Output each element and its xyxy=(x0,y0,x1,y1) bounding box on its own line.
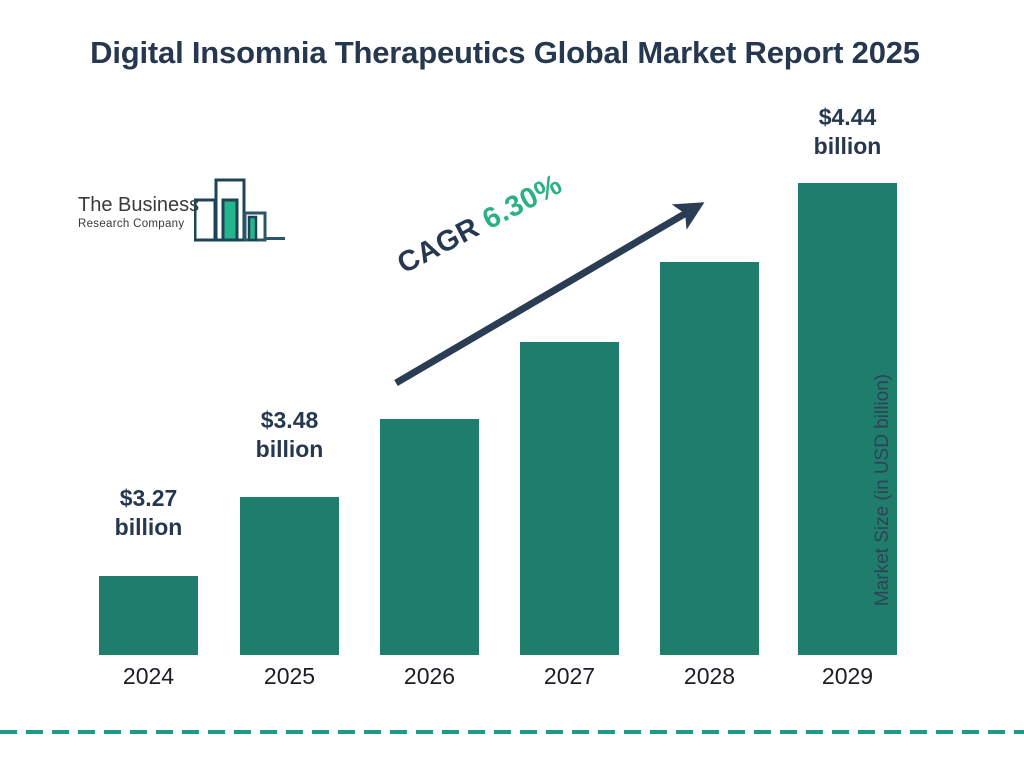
chart-canvas: Digital Insomnia Therapeutics Global Mar… xyxy=(0,0,1024,768)
y-axis-title: Market Size (in USD billion) xyxy=(872,330,894,650)
chart-overlay xyxy=(0,0,1024,768)
